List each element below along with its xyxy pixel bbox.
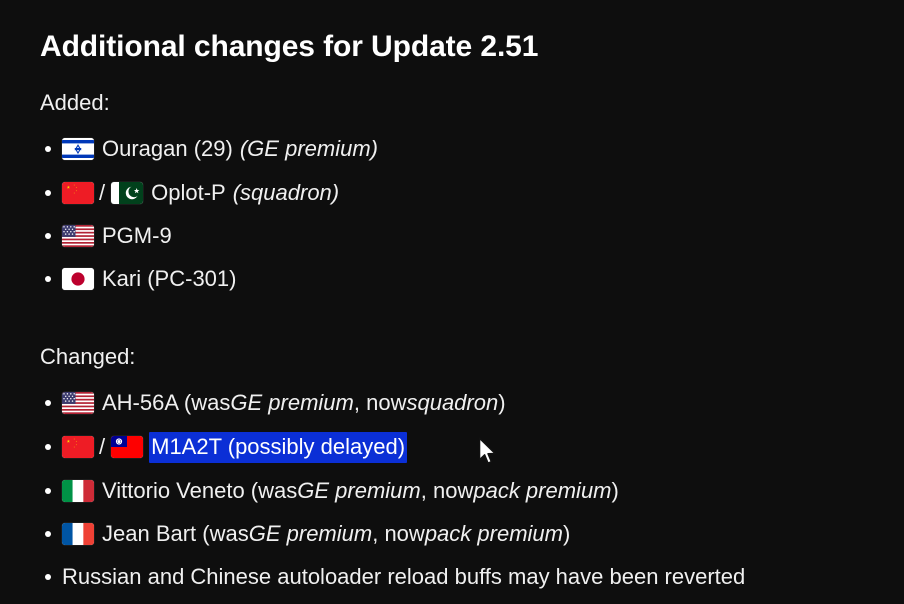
list-item-italic-before: GE premium: [249, 521, 372, 547]
pakistan-flag: [111, 182, 143, 204]
list-item-text-prefix: Vittorio Veneto (was: [94, 478, 297, 504]
section-label-changed: Changed:: [40, 344, 135, 370]
list-item-label: Ouragan (29): [94, 136, 233, 162]
flag-separator: /: [94, 180, 111, 206]
usa-flag: [62, 392, 94, 414]
page-title: Additional changes for Update 2.51: [40, 30, 538, 64]
italy-flag: [62, 480, 94, 502]
france-flag: [62, 523, 94, 545]
china-flag: [62, 436, 94, 458]
list-item[interactable]: AH-56A (was GE premium , now squadron ): [40, 388, 506, 418]
list-item-label: Russian and Chinese autoloader reload bu…: [62, 564, 745, 590]
list-item[interactable]: Ouragan (29) (GE premium): [40, 134, 378, 164]
list-item-text-middle: , now: [421, 478, 474, 504]
list-item-italic-after: squadron: [406, 390, 498, 416]
selected-text[interactable]: M1A2T (possibly delayed): [149, 432, 407, 463]
list-item-text-middle: , now: [354, 390, 407, 416]
list-item-italic-after: pack premium: [425, 521, 563, 547]
list-item-text-suffix: ): [612, 478, 619, 504]
japan-flag: [62, 268, 94, 290]
list-item-text-middle: , now: [372, 521, 425, 547]
list-item[interactable]: Vittorio Veneto (was GE premium , now pa…: [40, 476, 619, 506]
israel-flag: [62, 138, 94, 160]
list-item[interactable]: / Oplot-P (squadron): [40, 178, 339, 208]
list-item-label: Oplot-P: [143, 180, 226, 206]
mouse-pointer-icon: [478, 437, 500, 467]
list-item-text-suffix: ): [498, 390, 505, 416]
list-item-selected[interactable]: / M1A2T (possibly delayed): [40, 432, 407, 462]
section-label-added: Added:: [40, 90, 110, 116]
list-item[interactable]: Russian and Chinese autoloader reload bu…: [40, 562, 745, 592]
list-item[interactable]: PGM-9: [40, 221, 172, 251]
changelog-page: Additional changes for Update 2.51 Added…: [0, 0, 904, 604]
list-item-italic-after: pack premium: [473, 478, 611, 504]
list-item-text-prefix: AH-56A (was: [94, 390, 230, 416]
list-item-text-prefix: Jean Bart (was: [94, 521, 249, 547]
list-item-italic-before: GE premium: [297, 478, 420, 504]
list-item-note: (squadron): [226, 180, 339, 206]
list-item[interactable]: Jean Bart (was GE premium , now pack pre…: [40, 519, 570, 549]
china-flag: [62, 182, 94, 204]
list-item-note: (GE premium): [233, 136, 378, 162]
usa-flag: [62, 225, 94, 247]
list-item-italic-before: GE premium: [230, 390, 353, 416]
list-item[interactable]: Kari (PC-301): [40, 264, 236, 294]
taiwan-flag: [111, 436, 143, 458]
flag-separator: /: [94, 434, 111, 460]
list-item-label: Kari (PC-301): [94, 266, 236, 292]
list-item-text-suffix: ): [563, 521, 570, 547]
list-item-label: PGM-9: [94, 223, 172, 249]
